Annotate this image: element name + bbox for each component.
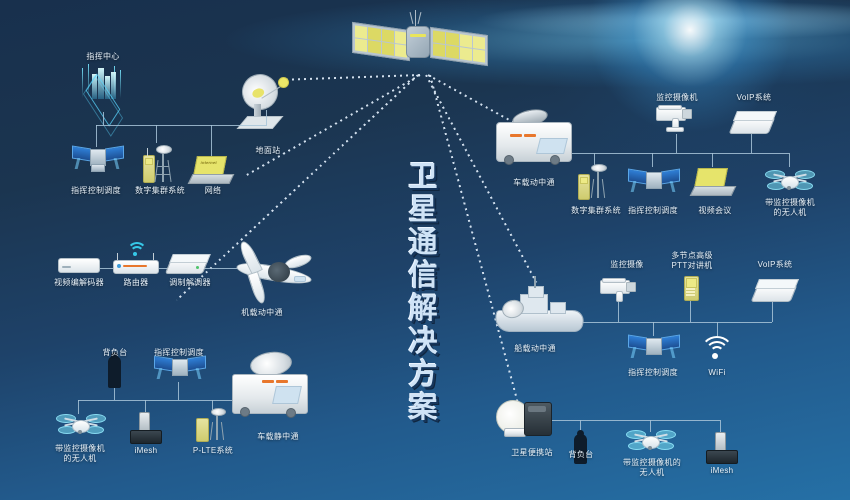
- satellite: [352, 10, 482, 76]
- connector-drop: [690, 298, 691, 322]
- title-char: 星: [408, 193, 437, 226]
- console-center: [172, 359, 188, 376]
- console-center: [646, 338, 662, 355]
- label-ground-station: 地面站: [228, 146, 308, 156]
- modem-led: [196, 266, 199, 269]
- command-center-hologram: [68, 62, 138, 114]
- console-center: [646, 172, 662, 189]
- title-char: 方: [408, 358, 437, 391]
- drone-camera-icon: [787, 186, 791, 190]
- router-led-strip: [123, 265, 147, 267]
- vehicle-mobile-satcom: [494, 110, 574, 176]
- router-power-led: [117, 264, 121, 268]
- label-vehicle-mobile-satcom: 车载动中通: [494, 178, 574, 188]
- holo-building: [111, 72, 116, 99]
- connector-bus: [538, 420, 720, 421]
- title-char: 信: [408, 259, 437, 292]
- laptop-base: [690, 186, 737, 196]
- satellite-antenna: [415, 10, 416, 26]
- drone-with-camera: [56, 412, 104, 440]
- plane-engine: [268, 262, 290, 282]
- label-video-conference: 视频会议: [675, 206, 755, 216]
- solar-panel-right: [430, 27, 488, 66]
- tower-leg: [602, 179, 605, 198]
- holo-ray: [120, 70, 121, 98]
- ptt-screen: [686, 278, 697, 288]
- ptt-radio: [682, 276, 702, 300]
- label-surveillance-camera: 监控摄像机: [637, 93, 717, 103]
- van-wheel: [504, 155, 514, 165]
- airborne-aircraft: [222, 236, 318, 302]
- label-modem: 调制解调器: [150, 278, 230, 288]
- van-window: [272, 386, 302, 404]
- video-conference-laptop: [692, 168, 738, 198]
- connector-drop: [652, 153, 653, 167]
- digital-trunking-system: [142, 142, 178, 184]
- label-network: 网络: [173, 186, 253, 196]
- label-vehicle-static-satcom: 车载静中通: [238, 432, 318, 442]
- modem: [168, 252, 212, 276]
- tower-mast: [216, 412, 218, 440]
- van-window: [536, 138, 568, 154]
- satellite-stripe: [410, 34, 426, 37]
- voip-box-top: [733, 111, 777, 121]
- tower-leg: [221, 422, 224, 440]
- tower-mast: [597, 169, 599, 198]
- label-plte: P-LTE系统: [173, 446, 253, 456]
- satellite-body: [406, 26, 430, 58]
- modem-top: [169, 254, 211, 263]
- laptop-screen-text: internet: [200, 160, 217, 165]
- console-leg: [631, 347, 637, 358]
- video-codec: [58, 258, 100, 274]
- console-leg: [157, 368, 163, 379]
- connector-drop: [266, 110, 267, 126]
- digital-trunking-system: [578, 164, 614, 204]
- tower-leg: [210, 422, 213, 440]
- imesh-base: [130, 430, 162, 444]
- command-console: [628, 168, 678, 196]
- tower-dish: [211, 408, 226, 416]
- van-stripe: [276, 380, 288, 383]
- label-wifi: WiFi: [677, 368, 757, 378]
- laptop-screen: internet: [193, 156, 227, 176]
- wifi-dot: [712, 353, 718, 359]
- connector-drop: [96, 125, 97, 147]
- connector-drop: [676, 134, 677, 153]
- solar-panel-left: [352, 22, 410, 61]
- van-stripe: [262, 380, 274, 383]
- laptop-base: [188, 174, 235, 184]
- radio-screen: [580, 177, 588, 184]
- camera-lens: [626, 282, 636, 292]
- van-wheel: [286, 408, 296, 418]
- console-wing-left: [628, 168, 647, 184]
- console-leg: [75, 158, 81, 169]
- wifi-icon: [700, 336, 734, 360]
- shipborne-satcom-vessel: [494, 276, 586, 338]
- title-char: 通: [408, 226, 437, 259]
- plte-system: [196, 408, 230, 444]
- console-wing-left: [628, 334, 647, 350]
- connector-bus: [96, 125, 266, 126]
- wifi-dot: [133, 252, 137, 256]
- tower-leg: [591, 179, 594, 198]
- imesh-base: [706, 450, 738, 464]
- console-wing-left: [72, 145, 91, 161]
- tower-cross: [157, 166, 169, 167]
- voip-box-top: [755, 279, 799, 289]
- vehicle-static-satcom: [228, 352, 310, 430]
- portable-satellite-station: [496, 400, 558, 444]
- connector-bus: [557, 153, 789, 154]
- console-leg: [670, 347, 676, 358]
- van-wheel: [550, 155, 560, 165]
- van-stripe: [524, 134, 536, 137]
- plte-radio: [196, 418, 209, 442]
- command-console: [154, 355, 204, 383]
- connector-drop: [789, 153, 790, 167]
- label-command-center: 指挥中心: [63, 52, 143, 62]
- camera-lens: [682, 109, 692, 119]
- ship-mast: [534, 276, 536, 288]
- connector-drop: [114, 388, 115, 400]
- connector-drop: [156, 125, 157, 143]
- van-wheel: [240, 407, 250, 417]
- camera-bracket: [666, 127, 684, 132]
- title-char: 决: [408, 325, 437, 358]
- voip-system: [752, 276, 800, 304]
- label-voip-system: VoIP系统: [735, 260, 815, 270]
- label-cmd-ctrl-dispatch: 指挥控制调度: [139, 348, 219, 358]
- ptt-keypad: [686, 288, 695, 297]
- console-leg: [196, 368, 202, 379]
- label-ptt-radio: 多节点高级 PTT对讲机: [652, 251, 732, 271]
- codec-led: [62, 266, 71, 268]
- backpack-operator-silhouette: [108, 356, 121, 388]
- van-stripe: [510, 134, 522, 137]
- camera-hood: [658, 105, 682, 110]
- connector-bus: [556, 322, 772, 323]
- laptop-screen: [694, 168, 728, 188]
- surveillance-camera: [600, 278, 642, 306]
- command-console: [72, 145, 122, 173]
- label-drone-with-camera: 带监控摄像机 的无人机: [750, 198, 830, 218]
- connector-drop: [712, 153, 713, 167]
- label-airborne-satcom: 机载动中通: [212, 308, 312, 318]
- label-ship-satcom: 船载动中通: [495, 344, 575, 354]
- label-voip-system: VoIP系统: [714, 93, 794, 103]
- console-base: [91, 164, 105, 172]
- tower-cross: [156, 174, 170, 175]
- tower-leg: [167, 160, 171, 182]
- drone-with-camera: [626, 428, 674, 456]
- imesh-device: [130, 412, 162, 442]
- case-handle: [528, 406, 546, 412]
- title-char: 案: [408, 391, 437, 424]
- tower-dish: [591, 164, 607, 172]
- camera-hood: [602, 278, 626, 283]
- connector-drop: [178, 382, 179, 400]
- dish-feed-horn: [278, 77, 289, 88]
- title-char: 解: [408, 292, 437, 325]
- imesh-device: [706, 432, 738, 462]
- title-char: 卫: [408, 160, 437, 193]
- tower-dish: [156, 145, 172, 154]
- satellite-antenna: [418, 12, 422, 24]
- network-laptop: internet: [190, 156, 236, 188]
- radio-screen: [145, 158, 153, 165]
- radio-antenna: [147, 148, 148, 156]
- label-backpack-station: 背负台: [541, 450, 621, 460]
- operator-head: [577, 430, 584, 437]
- ship-deck-module: [550, 302, 566, 314]
- page-title: 卫 星 通 信 解 决 方 案: [392, 160, 454, 424]
- surveillance-camera: [656, 105, 698, 135]
- connector-drop: [103, 112, 104, 125]
- console-leg: [114, 158, 120, 169]
- satellite-antenna: [410, 12, 414, 24]
- drone-with-camera: [765, 168, 813, 196]
- satellite-communication-solution-diagram: 卫 星 通 信 解 决 方 案 指挥中心 地面站: [0, 0, 850, 500]
- connector-drop: [211, 125, 212, 156]
- voip-system: [730, 108, 778, 136]
- drone-camera-icon: [78, 430, 82, 434]
- connector-drop: [751, 134, 752, 153]
- label-imesh: iMesh: [682, 466, 762, 476]
- tower-leg: [154, 160, 158, 182]
- router: [113, 242, 159, 274]
- camera-mount: [616, 291, 623, 302]
- console-leg: [631, 181, 637, 192]
- plane-window: [294, 276, 306, 282]
- drone-camera-icon: [648, 446, 652, 450]
- connector-drop: [717, 322, 718, 336]
- dish-base: [237, 116, 284, 129]
- command-console: [628, 334, 678, 362]
- portable-dish-mount: [504, 428, 526, 437]
- console-leg: [670, 181, 676, 192]
- ship-bridge: [528, 286, 544, 298]
